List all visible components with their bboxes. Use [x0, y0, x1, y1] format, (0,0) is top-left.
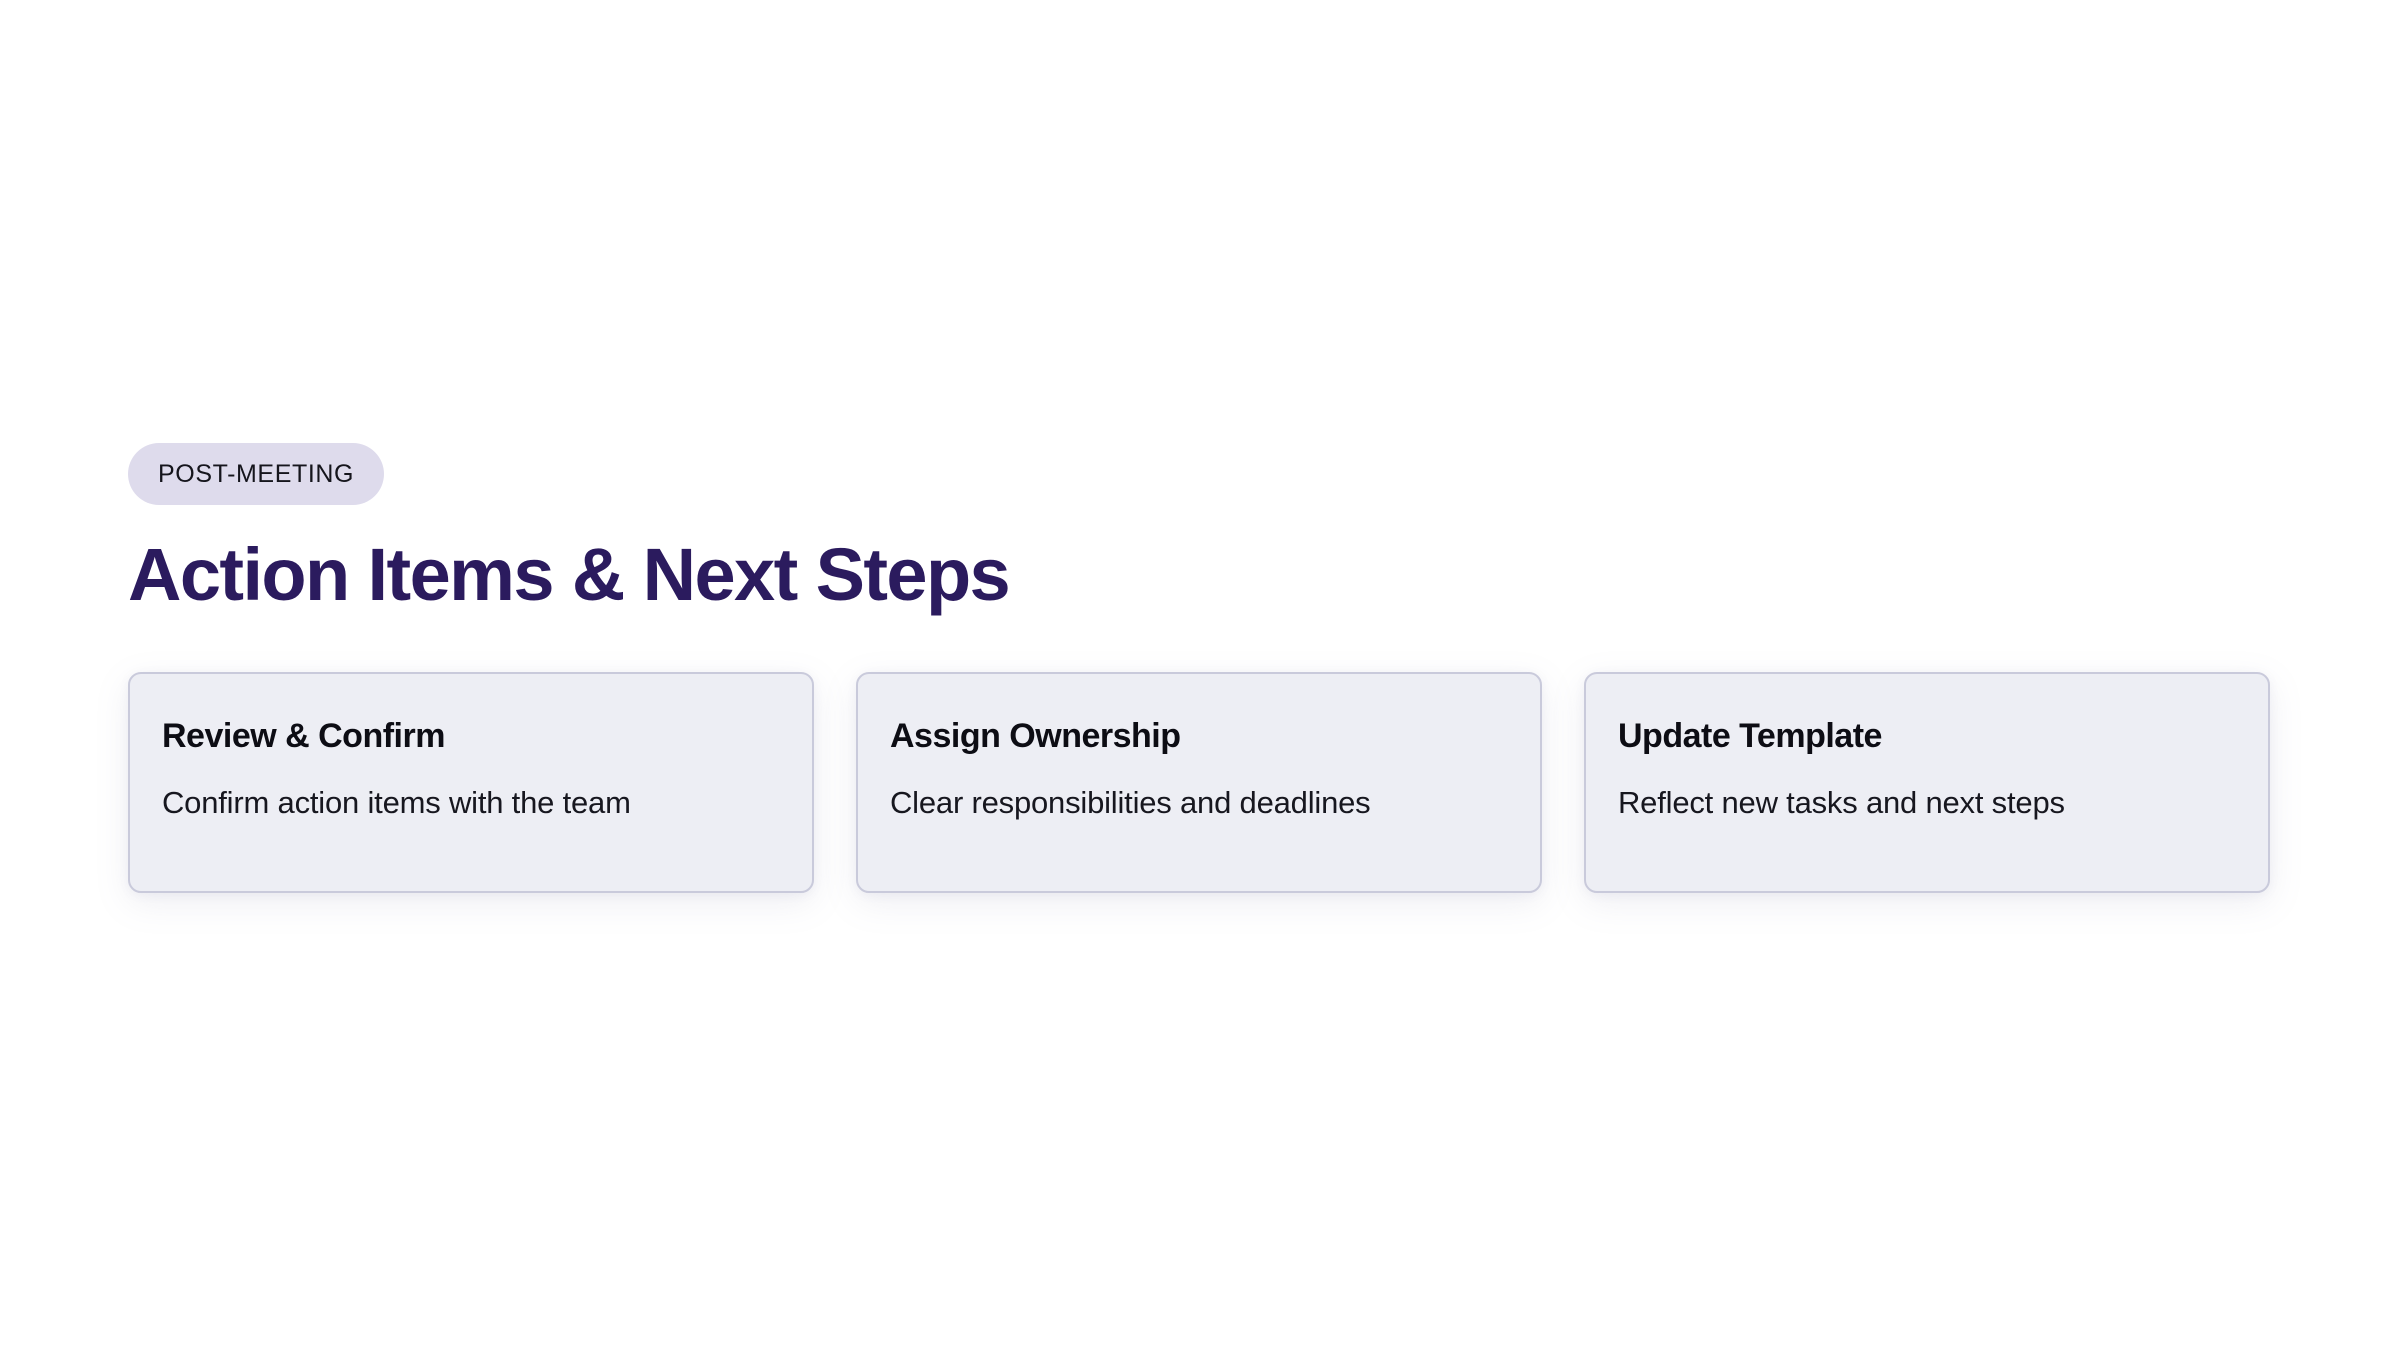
- card-title: Update Template: [1618, 718, 2236, 755]
- slide-canvas: POST-MEETING Action Items & Next Steps R…: [0, 0, 2400, 1350]
- action-items-card-row: Review & Confirm Confirm action items wi…: [128, 672, 2270, 893]
- content-block: POST-MEETING Action Items & Next Steps R…: [128, 443, 2272, 893]
- card-description: Reflect new tasks and next steps: [1618, 784, 2236, 821]
- card-title: Review & Confirm: [162, 718, 780, 755]
- page-title: Action Items & Next Steps: [128, 536, 2272, 614]
- status-badge: POST-MEETING: [128, 443, 384, 505]
- card-description: Confirm action items with the team: [162, 784, 780, 821]
- card-description: Clear responsibilities and deadlines: [890, 784, 1508, 821]
- action-item-card-review-confirm[interactable]: Review & Confirm Confirm action items wi…: [128, 672, 814, 893]
- action-item-card-assign-ownership[interactable]: Assign Ownership Clear responsibilities …: [856, 672, 1542, 893]
- card-title: Assign Ownership: [890, 718, 1508, 755]
- action-item-card-update-template[interactable]: Update Template Reflect new tasks and ne…: [1584, 672, 2270, 893]
